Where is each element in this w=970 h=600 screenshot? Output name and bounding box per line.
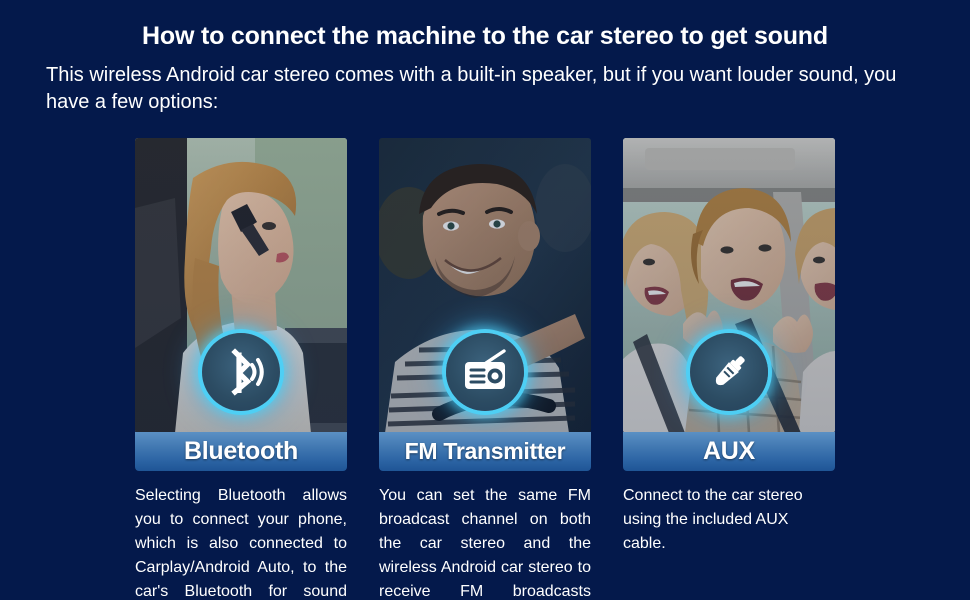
card-photo-fm-transmitter [379, 138, 591, 433]
radio-icon [460, 347, 510, 397]
card-photo-bluetooth [135, 138, 347, 433]
card-label-aux: AUX [623, 432, 835, 471]
option-card-aux: AUX Connect to the car stereo using the … [623, 138, 835, 578]
option-card-bluetooth: Bluetooth Selecting Bluetooth allows you… [135, 138, 347, 578]
infographic-page: How to connect the machine to the car st… [0, 0, 970, 600]
aux-badge [690, 333, 768, 411]
card-label-bluetooth: Bluetooth [135, 432, 347, 471]
page-subtitle: This wireless Android car stereo comes w… [46, 62, 930, 116]
page-title: How to connect the machine to the car st… [0, 22, 970, 51]
option-card-fm-transmitter: FM Transmitter You can set the same FM b… [379, 138, 591, 578]
card-caption-fm-transmitter: You can set the same FM broadcast channe… [379, 484, 591, 600]
bluetooth-badge [202, 333, 280, 411]
options-card-row: Bluetooth Selecting Bluetooth allows you… [135, 138, 835, 578]
fm-transmitter-badge [446, 333, 524, 411]
card-label-fm-transmitter: FM Transmitter [379, 432, 591, 471]
card-caption-aux: Connect to the car stereo using the incl… [623, 484, 835, 556]
card-caption-bluetooth: Selecting Bluetooth allows you to connec… [135, 484, 347, 600]
card-photo-aux [623, 138, 835, 433]
audio-jack-icon [704, 347, 754, 397]
bluetooth-icon [215, 346, 267, 398]
